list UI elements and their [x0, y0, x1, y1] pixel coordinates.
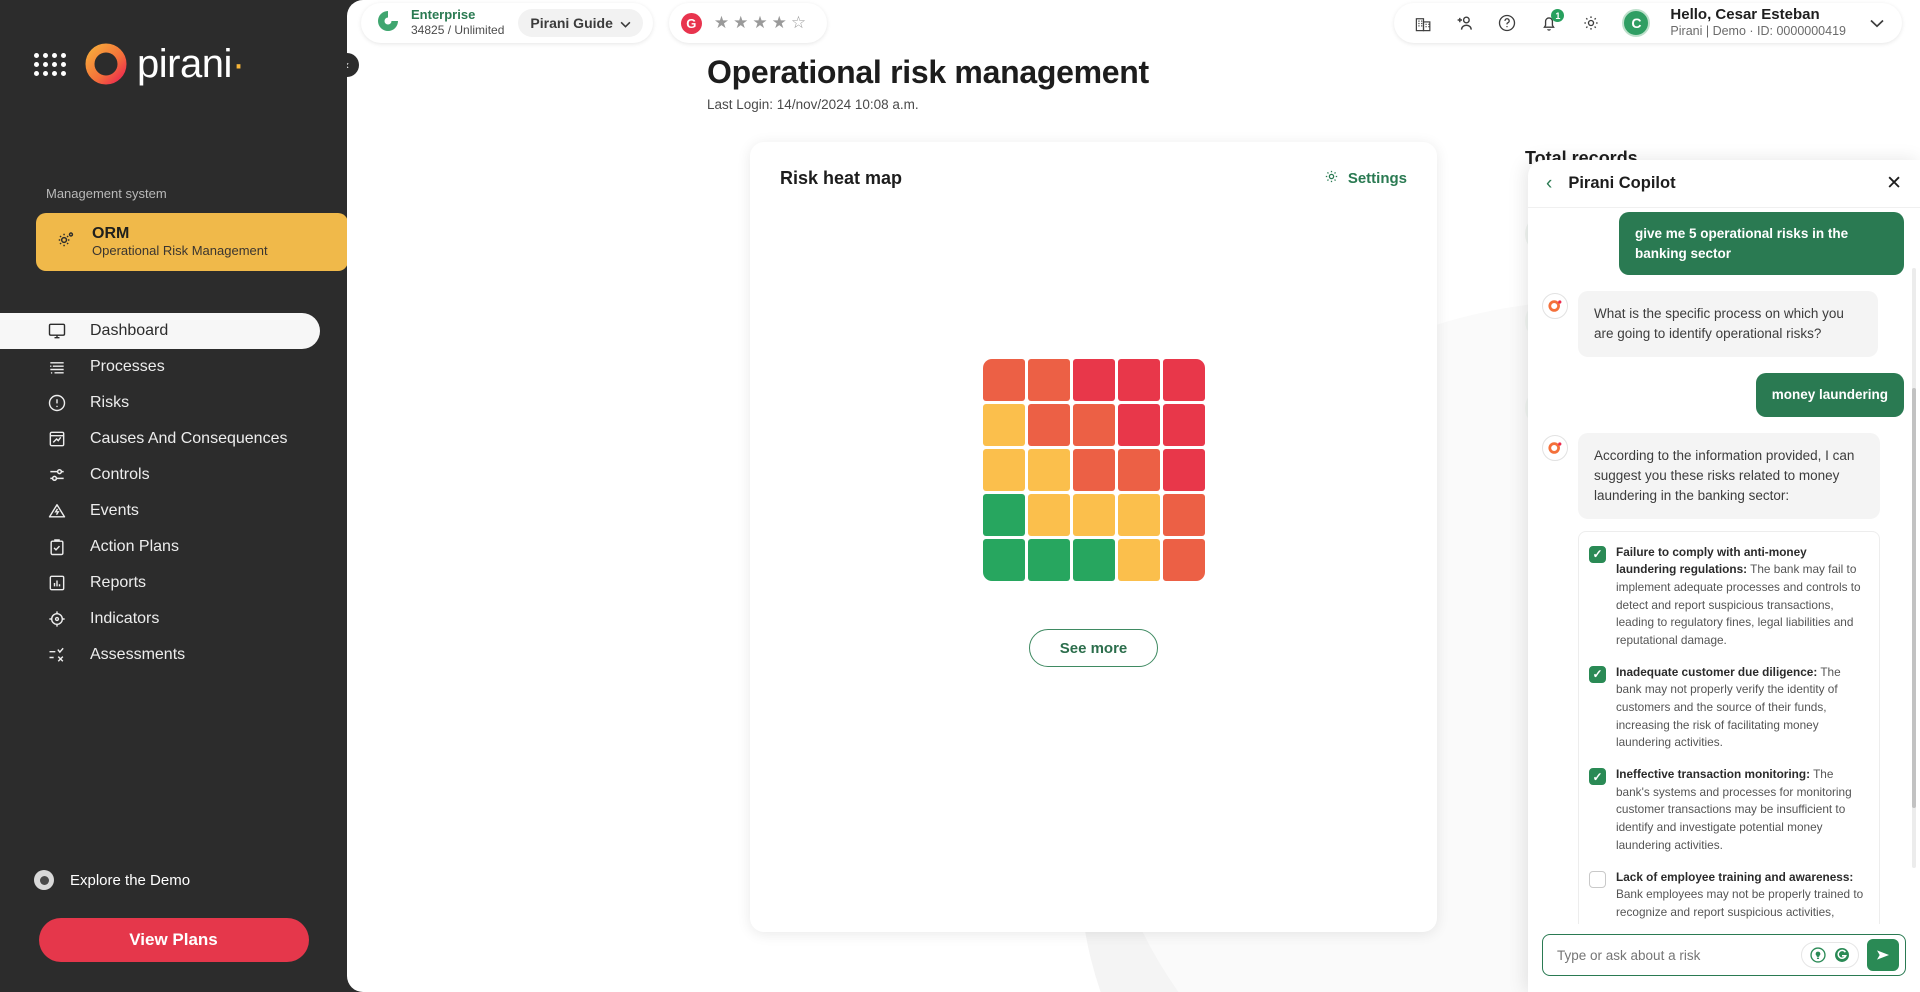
card-header: Risk heat map Settings — [780, 168, 1407, 189]
list-icon — [46, 356, 68, 378]
sidebar-item-label: Reports — [90, 574, 146, 592]
risk-heatmap-grid[interactable] — [983, 359, 1205, 581]
heatmap-cell-high[interactable] — [1163, 494, 1205, 536]
heatmap-cell-high[interactable] — [1028, 359, 1070, 401]
topbar: Enterprise 34825 / Unlimited Pirani Guid… — [347, 0, 1920, 46]
risk-checkbox[interactable] — [1589, 768, 1606, 785]
heatmap-cell-medium[interactable] — [983, 449, 1025, 491]
copilot-input-wrap[interactable] — [1542, 934, 1906, 976]
explore-demo-item[interactable]: Explore the Demo — [0, 870, 347, 890]
sidebar-item-label: Indicators — [90, 610, 159, 628]
sidebar-module-orm[interactable]: ORM Operational Risk Management — [36, 213, 348, 271]
checklist-icon — [46, 644, 68, 666]
plan-name: Enterprise — [411, 8, 504, 23]
star-icon-filled: ★ — [733, 13, 749, 33]
chevron-down-icon[interactable] — [1866, 12, 1888, 34]
heatmap-cell-extreme[interactable] — [1163, 359, 1205, 401]
risk-description: Inadequate customer due diligence: The b… — [1616, 664, 1867, 752]
risk-description: Ineffective transaction monitoring: The … — [1616, 766, 1867, 854]
heatmap-cell-high[interactable] — [983, 359, 1025, 401]
sidebar-item-processes[interactable]: Processes — [0, 349, 347, 385]
sidebar-item-label: Causes And Consequences — [90, 430, 287, 448]
heatmap-cell-high[interactable] — [1118, 449, 1160, 491]
star-icon-empty: ☆ — [791, 13, 807, 33]
company-icon[interactable] — [1412, 12, 1434, 34]
target-icon — [46, 608, 68, 630]
back-icon[interactable]: ‹ — [1546, 174, 1552, 193]
page-title: Operational risk management — [707, 54, 1920, 91]
heatmap-cell-medium[interactable] — [1028, 449, 1070, 491]
monitor-icon — [46, 320, 68, 342]
notification-badge: 1 — [1551, 9, 1564, 22]
plan-usage: 34825 / Unlimited — [411, 23, 504, 37]
risk-list-item[interactable]: Ineffective transaction monitoring: The … — [1589, 766, 1867, 854]
copilot-header: ‹ Pirani Copilot ✕ — [1528, 160, 1920, 208]
risk-description: Lack of employee training and awareness:… — [1616, 869, 1867, 924]
chat-message-user: money laundering — [1542, 373, 1904, 417]
chevron-down-icon — [620, 15, 631, 31]
see-more-button[interactable]: See more — [1029, 629, 1159, 667]
risk-heat-map-card: Risk heat map Settings See more — [750, 142, 1437, 932]
chat-message-user: give me 5 operational risks in the banki… — [1542, 212, 1904, 275]
sidebar-item-dashboard[interactable]: Dashboard — [0, 313, 320, 349]
sidebar-item-risks[interactable]: Risks — [0, 385, 347, 421]
risk-checkbox[interactable] — [1589, 666, 1606, 683]
heatmap-cell-high[interactable] — [1163, 539, 1205, 581]
heatmap-cell-medium[interactable] — [983, 404, 1025, 446]
chart-box-icon — [46, 428, 68, 450]
risk-list-item[interactable]: Failure to comply with anti-money launde… — [1589, 544, 1867, 650]
heatmap-cell-medium[interactable] — [1118, 539, 1160, 581]
heatmap-container — [780, 359, 1407, 581]
sidebar: pirani· Management system ORM Operationa… — [0, 0, 347, 992]
help-icon[interactable] — [1496, 12, 1518, 34]
pirani-copilot-panel: ‹ Pirani Copilot ✕ give me 5 operational… — [1528, 160, 1920, 992]
heatmap-cell-medium[interactable] — [1028, 494, 1070, 536]
message-text: give me 5 operational risks in the banki… — [1619, 212, 1904, 275]
risk-list-item[interactable]: Inadequate customer due diligence: The b… — [1589, 664, 1867, 752]
sidebar-item-causes-and-consequences[interactable]: Causes And Consequences — [0, 421, 347, 457]
clipboard-check-icon — [46, 536, 68, 558]
settings-gear-icon[interactable] — [1580, 12, 1602, 34]
copilot-title: Pirani Copilot — [1568, 174, 1870, 193]
user-greeting: Hello, Cesar Esteban — [1670, 6, 1846, 24]
copilot-input[interactable] — [1557, 948, 1793, 963]
sliders-icon — [46, 464, 68, 486]
sidebar-item-label: Risks — [90, 394, 129, 412]
g2-rating-pill[interactable]: G ★ ★ ★ ★ ☆ — [669, 3, 827, 43]
sidebar-footer: Explore the Demo View Plans — [0, 870, 347, 992]
user-pill[interactable]: 1 C Hello, Cesar Esteban Pirani | Demo ·… — [1394, 3, 1902, 43]
module-code: ORM — [92, 225, 268, 243]
suggested-risks-list: Failure to comply with anti-money launde… — [1578, 531, 1880, 924]
send-button[interactable] — [1867, 939, 1899, 971]
heatmap-cell-high[interactable] — [1073, 449, 1115, 491]
plan-circle-icon — [375, 8, 401, 39]
app-root: pirani· Management system ORM Operationa… — [0, 0, 1920, 992]
sidebar-item-label: Assessments — [90, 646, 185, 664]
copilot-g-icon[interactable] — [1832, 945, 1852, 965]
copilot-tools — [1801, 942, 1859, 968]
explore-demo-label: Explore the Demo — [70, 872, 190, 889]
scrollbar-thumb[interactable] — [1912, 388, 1916, 808]
heatmap-cell-low[interactable] — [1073, 539, 1115, 581]
app-grid-icon[interactable] — [34, 53, 66, 76]
star-icon-filled: ★ — [772, 13, 788, 33]
card-title: Risk heat map — [780, 168, 902, 189]
last-login-text: Last Login: 14/nov/2024 10:08 a.m. — [707, 97, 1920, 112]
pirani-logo-text: pirani· — [137, 44, 245, 84]
copilot-avatar-icon — [1542, 435, 1568, 461]
sidebar-item-events[interactable]: Events — [0, 493, 347, 529]
heatmap-cell-extreme[interactable] — [1073, 359, 1115, 401]
message-text: What is the specific process on which yo… — [1578, 291, 1878, 357]
gear-icon — [54, 229, 76, 256]
plan-pill[interactable]: Enterprise 34825 / Unlimited Pirani Guid… — [361, 3, 653, 43]
chat-message-bot: What is the specific process on which yo… — [1542, 291, 1904, 357]
risk-description: Failure to comply with anti-money launde… — [1616, 544, 1867, 650]
sidebar-item-label: Controls — [90, 466, 150, 484]
star-icon-filled: ★ — [714, 13, 730, 33]
heatmap-settings-button[interactable]: Settings — [1323, 168, 1407, 189]
heatmap-cell-low[interactable] — [983, 539, 1025, 581]
heatmap-cell-medium[interactable] — [1073, 494, 1115, 536]
star-icon-filled: ★ — [752, 13, 768, 33]
heatmap-cell-low[interactable] — [983, 494, 1025, 536]
heatmap-cell-extreme[interactable] — [1163, 449, 1205, 491]
heatmap-cell-extreme[interactable] — [1118, 359, 1160, 401]
copilot-footer — [1528, 924, 1920, 992]
heatmap-cell-high[interactable] — [1028, 404, 1070, 446]
heatmap-cell-extreme[interactable] — [1163, 404, 1205, 446]
main-area: ‹ Enterprise 34825 / Unlimited Piran — [347, 0, 1920, 992]
lightbulb-icon[interactable] — [1808, 945, 1828, 965]
heatmap-cell-medium[interactable] — [1118, 494, 1160, 536]
message-text: money laundering — [1756, 373, 1904, 417]
sidebar-item-action-plans[interactable]: Action Plans — [0, 529, 347, 565]
avatar[interactable]: C — [1622, 9, 1650, 37]
sidebar-item-label: Events — [90, 502, 139, 520]
gear-icon — [1323, 168, 1340, 189]
risk-list-item[interactable]: Lack of employee training and awareness:… — [1589, 869, 1867, 924]
pirani-logo[interactable]: pirani· — [84, 42, 245, 86]
chat-message-bot: According to the information provided, I… — [1542, 433, 1904, 924]
record-dot-icon — [34, 870, 54, 890]
close-icon[interactable]: ✕ — [1886, 174, 1902, 193]
page-header: Operational risk management Last Login: … — [347, 46, 1920, 112]
risk-checkbox[interactable] — [1589, 871, 1606, 888]
pirani-logo-icon — [84, 42, 128, 86]
pirani-guide-label: Pirani Guide — [530, 15, 612, 31]
heatmap-cell-extreme[interactable] — [1118, 404, 1160, 446]
sidebar-header: pirani· — [0, 0, 347, 86]
account-meta: Pirani | Demo · ID: 0000000419 — [1670, 24, 1846, 40]
sidebar-item-indicators[interactable]: Indicators — [0, 601, 347, 637]
sidebar-item-label: Processes — [90, 358, 165, 376]
bar-chart-icon — [46, 572, 68, 594]
sidebar-item-assessments[interactable]: Assessments — [0, 637, 347, 673]
sidebar-nav: Dashboard Processes Risks Causes And Con… — [0, 313, 347, 673]
pirani-guide-button[interactable]: Pirani Guide — [518, 9, 642, 37]
view-plans-button[interactable]: View Plans — [39, 918, 309, 962]
sidebar-item-reports[interactable]: Reports — [0, 565, 347, 601]
notifications-icon[interactable]: 1 — [1538, 12, 1560, 34]
copilot-avatar-icon — [1542, 293, 1568, 319]
warning-triangle-icon — [46, 500, 68, 522]
sidebar-item-label: Action Plans — [90, 538, 179, 556]
sidebar-item-label: Dashboard — [90, 322, 168, 340]
g2-icon: G — [681, 13, 702, 34]
settings-label: Settings — [1348, 170, 1407, 187]
heatmap-cell-high[interactable] — [1073, 404, 1115, 446]
alert-circle-icon — [46, 392, 68, 414]
heatmap-cell-low[interactable] — [1028, 539, 1070, 581]
module-name: Operational Risk Management — [92, 243, 268, 259]
risk-checkbox[interactable] — [1589, 546, 1606, 563]
copilot-messages[interactable]: give me 5 operational risks in the banki… — [1528, 208, 1920, 924]
sidebar-item-controls[interactable]: Controls — [0, 457, 347, 493]
star-rating[interactable]: ★ ★ ★ ★ ☆ — [714, 13, 807, 33]
add-user-icon[interactable] — [1454, 12, 1476, 34]
sidebar-section-label: Management system — [0, 186, 347, 201]
message-text: According to the information provided, I… — [1578, 433, 1880, 519]
